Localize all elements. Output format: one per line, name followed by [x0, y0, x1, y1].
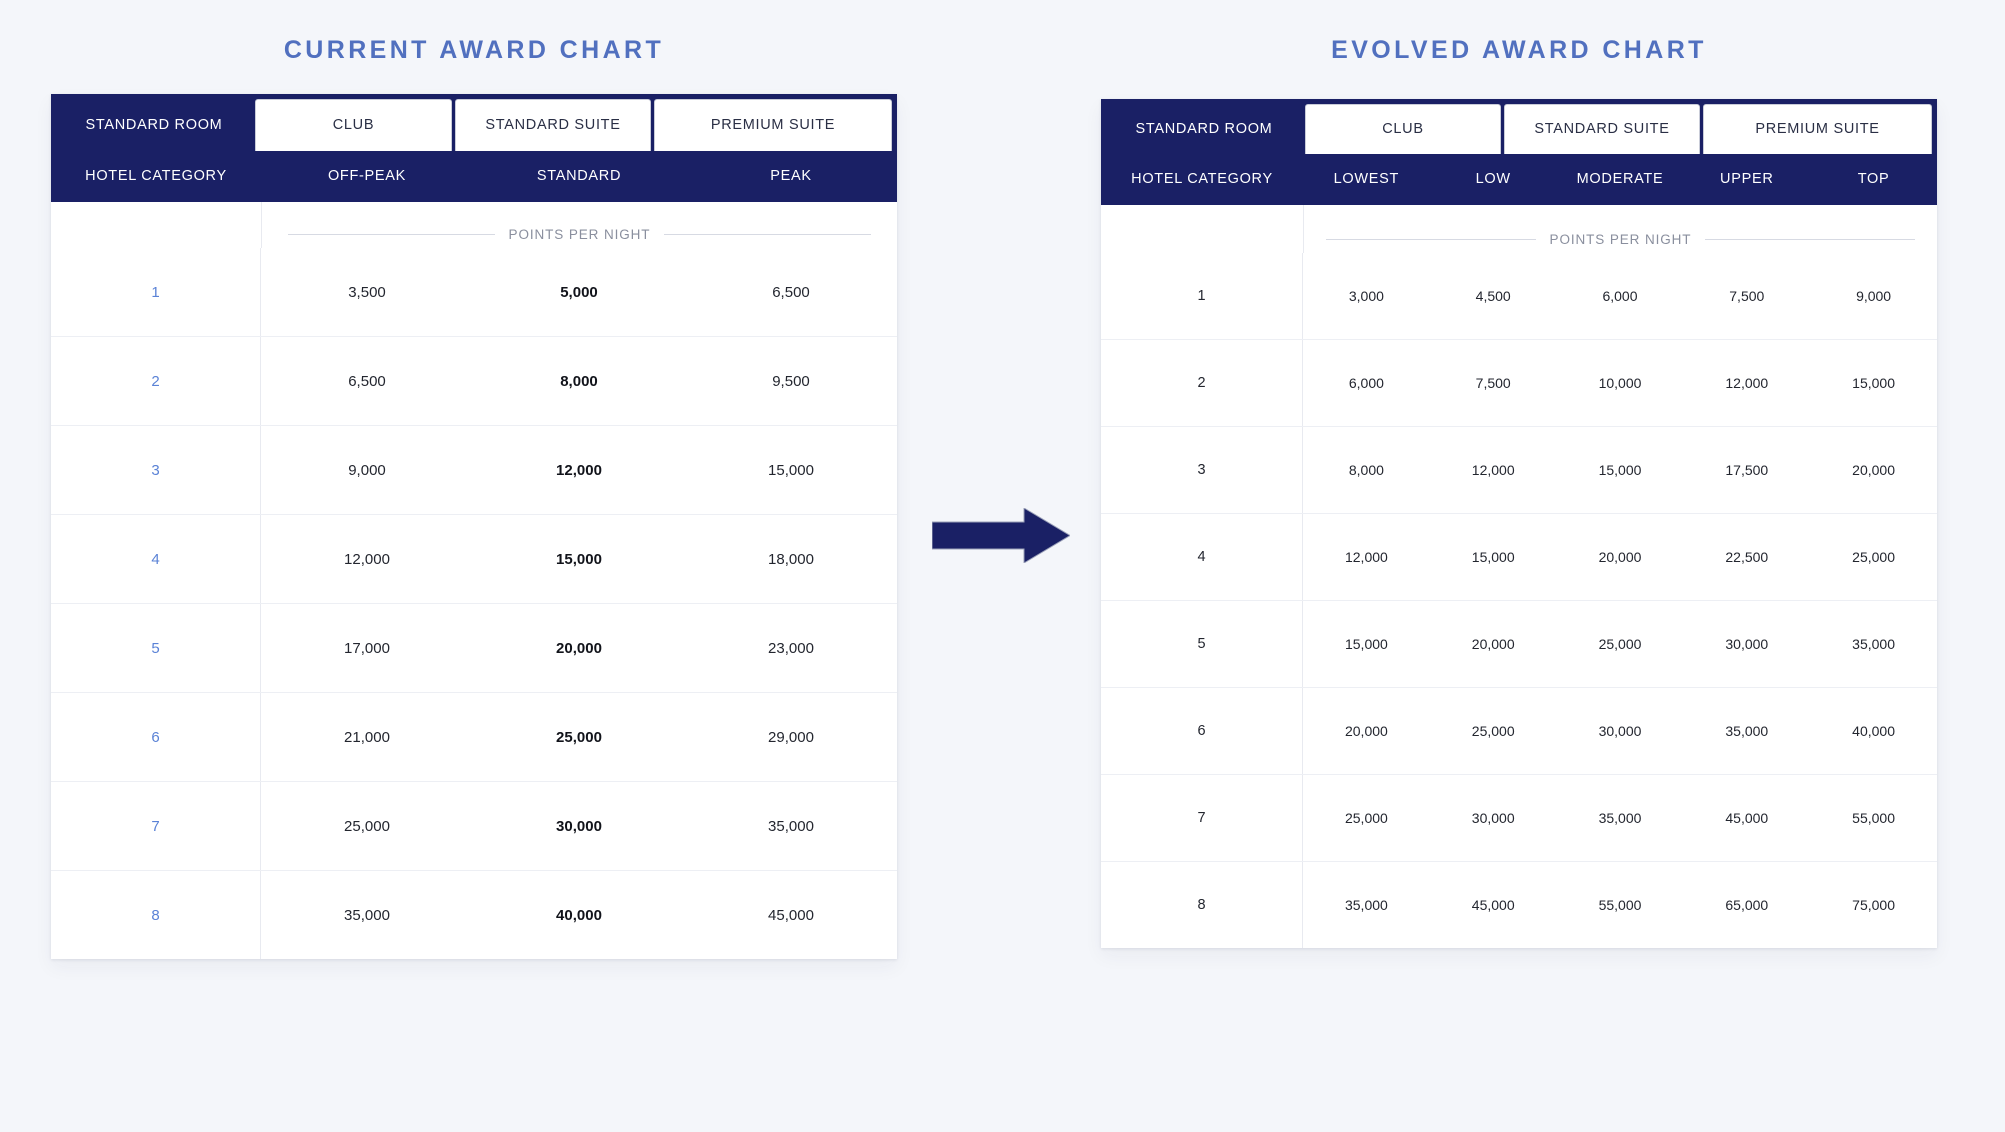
table-row: 2 6,000 7,500 10,000 12,000 15,000 — [1101, 339, 1937, 426]
cell-standard: 40,000 — [473, 871, 685, 959]
table-row: 2 6,500 8,000 9,500 — [51, 336, 897, 425]
cell-upper: 65,000 — [1683, 862, 1810, 948]
table-row: 4 12,000 15,000 18,000 — [51, 514, 897, 603]
table-row: 6 21,000 25,000 29,000 — [51, 692, 897, 781]
column-header-top: TOP — [1810, 171, 1937, 187]
cell-moderate: 15,000 — [1557, 427, 1684, 513]
tab-premium-suite[interactable]: PREMIUM SUITE — [654, 99, 892, 151]
column-header-moderate: MODERATE — [1557, 171, 1684, 187]
cell-category[interactable]: 7 — [51, 782, 261, 870]
cell-off-peak: 6,500 — [261, 337, 473, 425]
cell-off-peak: 21,000 — [261, 693, 473, 781]
cell-top: 9,000 — [1810, 253, 1937, 339]
cell-lowest: 3,000 — [1303, 253, 1430, 339]
table-row: 5 15,000 20,000 25,000 30,000 35,000 — [1101, 600, 1937, 687]
tab-premium-suite[interactable]: PREMIUM SUITE — [1703, 104, 1932, 154]
cell-category[interactable]: 5 — [51, 604, 261, 692]
cell-category[interactable]: 3 — [1101, 427, 1303, 513]
cell-category[interactable]: 1 — [51, 248, 261, 336]
divider-line-left — [1326, 239, 1536, 240]
tab-standard-suite[interactable]: STANDARD SUITE — [455, 99, 651, 151]
cell-peak: 9,500 — [685, 337, 897, 425]
cell-low: 7,500 — [1430, 340, 1557, 426]
cell-category[interactable]: 7 — [1101, 775, 1303, 861]
cell-category[interactable]: 6 — [1101, 688, 1303, 774]
cell-peak: 29,000 — [685, 693, 897, 781]
cell-standard: 12,000 — [473, 426, 685, 514]
cell-category[interactable]: 4 — [1101, 514, 1303, 600]
current-chart-title: CURRENT AWARD CHART — [51, 36, 897, 65]
column-header-hotel-category: HOTEL CATEGORY — [51, 168, 261, 184]
column-header-off-peak: OFF-PEAK — [261, 168, 473, 184]
cell-peak: 18,000 — [685, 515, 897, 603]
cell-low: 12,000 — [1430, 427, 1557, 513]
column-header-hotel-category: HOTEL CATEGORY — [1101, 171, 1303, 187]
cell-moderate: 10,000 — [1557, 340, 1684, 426]
evolved-award-chart-panel: EVOLVED AWARD CHART STANDARD ROOM CLUB S… — [1101, 36, 1937, 948]
cell-top: 35,000 — [1810, 601, 1937, 687]
cell-off-peak: 17,000 — [261, 604, 473, 692]
cell-peak: 35,000 — [685, 782, 897, 870]
cell-moderate: 20,000 — [1557, 514, 1684, 600]
current-room-type-tabs: STANDARD ROOM CLUB STANDARD SUITE PREMIU… — [51, 94, 897, 151]
cell-lowest: 25,000 — [1303, 775, 1430, 861]
current-award-table: STANDARD ROOM CLUB STANDARD SUITE PREMIU… — [51, 94, 897, 959]
cell-category[interactable]: 3 — [51, 426, 261, 514]
evolved-column-headers: HOTEL CATEGORY LOWEST LOW MODERATE UPPER… — [1101, 154, 1937, 205]
table-row: 3 9,000 12,000 15,000 — [51, 425, 897, 514]
cell-category[interactable]: 8 — [1101, 862, 1303, 948]
cell-low: 30,000 — [1430, 775, 1557, 861]
points-per-night-wrapper: POINTS PER NIGHT — [261, 202, 897, 248]
points-per-night-label: POINTS PER NIGHT — [1550, 232, 1692, 247]
cell-category[interactable]: 6 — [51, 693, 261, 781]
column-header-upper: UPPER — [1683, 171, 1810, 187]
cell-standard: 20,000 — [473, 604, 685, 692]
cell-category[interactable]: 5 — [1101, 601, 1303, 687]
cell-lowest: 15,000 — [1303, 601, 1430, 687]
cell-off-peak: 3,500 — [261, 248, 473, 336]
table-row: 1 3,500 5,000 6,500 — [51, 248, 897, 336]
cell-standard: 8,000 — [473, 337, 685, 425]
column-header-lowest: LOWEST — [1303, 171, 1430, 187]
points-per-night-wrapper: POINTS PER NIGHT — [1303, 205, 1937, 253]
cell-low: 15,000 — [1430, 514, 1557, 600]
current-points-per-night-band: POINTS PER NIGHT — [51, 202, 897, 248]
tab-club[interactable]: CLUB — [1305, 104, 1501, 154]
table-row: 4 12,000 15,000 20,000 22,500 25,000 — [1101, 513, 1937, 600]
cell-upper: 30,000 — [1683, 601, 1810, 687]
cell-category[interactable]: 8 — [51, 871, 261, 959]
cell-standard: 30,000 — [473, 782, 685, 870]
cell-top: 15,000 — [1810, 340, 1937, 426]
tab-standard-suite[interactable]: STANDARD SUITE — [1504, 104, 1700, 154]
cell-top: 20,000 — [1810, 427, 1937, 513]
table-row: 1 3,000 4,500 6,000 7,500 9,000 — [1101, 253, 1937, 339]
cell-top: 25,000 — [1810, 514, 1937, 600]
evolved-award-table: STANDARD ROOM CLUB STANDARD SUITE PREMIU… — [1101, 99, 1937, 948]
cell-peak: 6,500 — [685, 248, 897, 336]
evolved-points-per-night-band: POINTS PER NIGHT — [1101, 205, 1937, 253]
table-row: 8 35,000 40,000 45,000 — [51, 870, 897, 959]
cell-moderate: 30,000 — [1557, 688, 1684, 774]
table-row: 6 20,000 25,000 30,000 35,000 40,000 — [1101, 687, 1937, 774]
cell-category[interactable]: 2 — [51, 337, 261, 425]
cell-category[interactable]: 4 — [51, 515, 261, 603]
tab-standard-room[interactable]: STANDARD ROOM — [56, 99, 252, 151]
column-header-peak: PEAK — [685, 168, 897, 184]
cell-off-peak: 35,000 — [261, 871, 473, 959]
cell-category[interactable]: 2 — [1101, 340, 1303, 426]
cell-peak: 15,000 — [685, 426, 897, 514]
cell-upper: 17,500 — [1683, 427, 1810, 513]
cell-off-peak: 12,000 — [261, 515, 473, 603]
cell-peak: 23,000 — [685, 604, 897, 692]
cell-lowest: 20,000 — [1303, 688, 1430, 774]
tab-club[interactable]: CLUB — [255, 99, 452, 151]
cell-upper: 45,000 — [1683, 775, 1810, 861]
cell-moderate: 35,000 — [1557, 775, 1684, 861]
cell-peak: 45,000 — [685, 871, 897, 959]
cell-moderate: 6,000 — [1557, 253, 1684, 339]
current-award-chart-panel: CURRENT AWARD CHART STANDARD ROOM CLUB S… — [51, 36, 897, 959]
cell-upper: 35,000 — [1683, 688, 1810, 774]
right-arrow-icon — [932, 508, 1070, 563]
column-header-standard: STANDARD — [473, 168, 685, 184]
table-row: 5 17,000 20,000 23,000 — [51, 603, 897, 692]
cell-category[interactable]: 1 — [1101, 253, 1303, 339]
table-row: 8 35,000 45,000 55,000 65,000 75,000 — [1101, 861, 1937, 948]
table-row: 3 8,000 12,000 15,000 17,500 20,000 — [1101, 426, 1937, 513]
cell-moderate: 25,000 — [1557, 601, 1684, 687]
points-per-night-label: POINTS PER NIGHT — [509, 227, 651, 242]
cell-top: 40,000 — [1810, 688, 1937, 774]
cell-low: 4,500 — [1430, 253, 1557, 339]
cell-top: 55,000 — [1810, 775, 1937, 861]
cell-top: 75,000 — [1810, 862, 1937, 948]
cell-moderate: 55,000 — [1557, 862, 1684, 948]
cell-standard: 5,000 — [473, 248, 685, 336]
divider-line-right — [664, 234, 871, 235]
cell-lowest: 12,000 — [1303, 514, 1430, 600]
cell-standard: 15,000 — [473, 515, 685, 603]
table-row: 7 25,000 30,000 35,000 45,000 55,000 — [1101, 774, 1937, 861]
cell-low: 20,000 — [1430, 601, 1557, 687]
cell-upper: 7,500 — [1683, 253, 1810, 339]
column-header-low: LOW — [1430, 171, 1557, 187]
divider-line-right — [1705, 239, 1915, 240]
current-column-headers: HOTEL CATEGORY OFF-PEAK STANDARD PEAK — [51, 151, 897, 202]
cell-low: 45,000 — [1430, 862, 1557, 948]
cell-standard: 25,000 — [473, 693, 685, 781]
cell-upper: 22,500 — [1683, 514, 1810, 600]
evolved-chart-title: EVOLVED AWARD CHART — [1101, 36, 1937, 65]
cell-off-peak: 25,000 — [261, 782, 473, 870]
cell-upper: 12,000 — [1683, 340, 1810, 426]
tab-standard-room[interactable]: STANDARD ROOM — [1106, 104, 1302, 154]
cell-lowest: 8,000 — [1303, 427, 1430, 513]
award-chart-comparison: CURRENT AWARD CHART STANDARD ROOM CLUB S… — [0, 0, 2005, 1132]
table-row: 7 25,000 30,000 35,000 — [51, 781, 897, 870]
cell-off-peak: 9,000 — [261, 426, 473, 514]
cell-low: 25,000 — [1430, 688, 1557, 774]
divider-line-left — [288, 234, 495, 235]
cell-lowest: 35,000 — [1303, 862, 1430, 948]
cell-lowest: 6,000 — [1303, 340, 1430, 426]
evolved-room-type-tabs: STANDARD ROOM CLUB STANDARD SUITE PREMIU… — [1101, 99, 1937, 154]
